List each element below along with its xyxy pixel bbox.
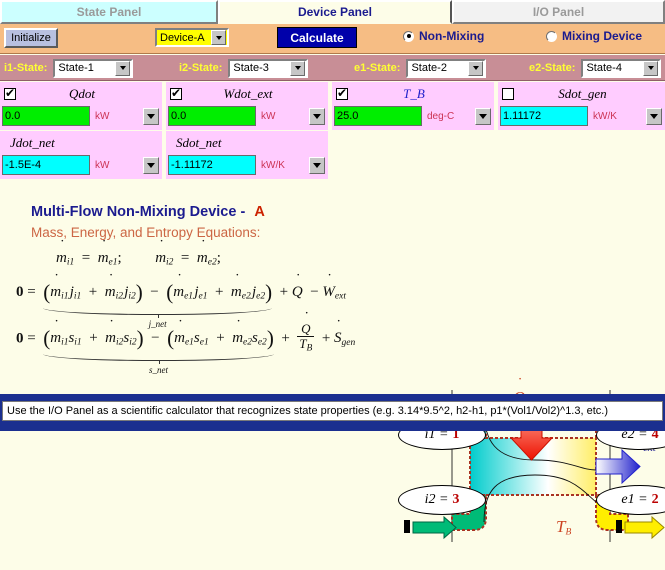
state-select-e2-value: State-4 [583,62,643,74]
property-name-t-b: T_B [348,86,494,102]
status-bar-text: Use the I/O Panel as a scientific calcul… [7,405,608,417]
unit-select-jdot-net[interactable]: kW [93,155,160,175]
underbrace-snet [43,354,274,361]
chevron-down-icon[interactable] [646,108,662,125]
state-select-e1[interactable]: State-2 [406,59,486,78]
fraction-q-over-tb: Q TB [297,322,314,354]
state-cell-i1: i1-State: State-1 [4,55,133,81]
inlet2-arrow [404,517,456,538]
page-subtitle: Mass, Energy, and Entropy Equations: [31,225,260,240]
property-name-sdot-gen: Sdot_gen [514,86,665,102]
page-title-text: Multi-Flow Non-Mixing Device - [31,204,245,220]
chevron-down-icon[interactable] [115,61,130,76]
input-sdot-net[interactable]: -1.11172 [168,155,256,175]
property-row: Qdot 0.0 kW Wdot_ext 0.0 kW T_B [0,82,665,130]
state-select-i1[interactable]: State-1 [53,59,133,78]
page-title: Multi-Flow Non-Mixing Device - A [31,204,265,220]
input-wdot-ext[interactable]: 0.0 [168,106,256,126]
property-header-t-b: T_B [332,82,494,106]
property-panel-sdot-gen: Sdot_gen 1.11172 kW/K [498,82,665,130]
radio-mixing-device-label: Mixing Device [562,29,642,43]
property-name-qdot: Qdot [16,86,162,102]
state-cell-e2: e2-State: State-4 [529,55,661,81]
tab-state-panel[interactable]: State Panel [0,0,218,24]
port-label-i2: i2 = 3 [398,485,486,515]
state-label-e1: e1-State: [354,62,400,74]
property-header-wdot-ext: Wdot_ext [166,82,328,106]
property-value-row-t-b: 25.0 deg-C [332,106,494,128]
chevron-down-icon[interactable] [468,61,483,76]
unit-label-sdot-gen: kW/K [591,111,646,122]
unit-select-t-b[interactable]: deg-C [425,106,492,126]
property-panel-t-b: T_B 25.0 deg-C [332,82,496,130]
input-sdot-gen[interactable]: 1.11172 [500,106,588,126]
checkbox-t-b[interactable] [336,88,348,100]
state-select-i2[interactable]: State-3 [228,59,308,78]
checkbox-wdot-ext[interactable] [170,88,182,100]
input-t-b[interactable]: 25.0 [334,106,422,126]
port-label-e1-state: 2 [652,492,659,508]
equation-energy-jnet-group: (mi1 ji1 + mi2 ji2) − (me1 je1 + me2 je2… [43,280,272,305]
equation-entropy-snet-group: (mi1si1 + mi2si2) − (me1se1 + me2se2) s_… [43,326,274,351]
property-name-wdot-ext: Wdot_ext [182,86,328,102]
chevron-down-icon[interactable] [211,30,226,45]
unit-label-qdot: kW [93,111,143,122]
net-property-row: Jdot_net -1.5E-4 kW Sdot_net -1.11172 kW… [0,131,665,179]
property-header-sdot-gen: Sdot_gen [498,82,665,106]
property-name-jdot-net: Jdot_net [4,135,162,151]
toolbar: Initialize Device-A Calculate Non-Mixing… [0,24,665,54]
work-output-arrow [596,450,640,483]
checkbox-sdot-gen[interactable] [502,88,514,100]
unit-label-jdot-net: kW [93,160,143,171]
port-label-e1-text: e1 = [621,492,647,508]
chevron-down-icon[interactable] [143,157,159,174]
radio-non-mixing-label: Non-Mixing [419,29,484,43]
device-select-value: Device-A [157,32,211,44]
property-panel-jdot-net: Jdot_net -1.5E-4 kW [0,131,164,179]
port-label-i2-state: 3 [452,492,459,508]
chevron-down-icon[interactable] [643,61,658,76]
initialize-button[interactable]: Initialize [4,28,58,48]
unit-select-sdot-net[interactable]: kW/K [259,155,326,175]
property-value-row-sdot-net: -1.11172 kW/K [166,155,328,177]
radio-non-mixing-indicator[interactable] [403,31,414,42]
chevron-down-icon[interactable] [143,108,159,125]
page-title-device: A [254,204,264,220]
boundary-temperature-label: TB [556,517,571,537]
status-bar-container: Use the I/O Panel as a scientific calcul… [0,394,665,431]
state-cell-i2: i2-State: State-3 [179,55,308,81]
property-name-sdot-net: Sdot_net [170,135,328,151]
input-jdot-net[interactable]: -1.5E-4 [2,155,90,175]
state-select-row: i1-State: State-1 i2-State: State-3 e1-S… [0,55,665,81]
state-select-i1-value: State-1 [55,62,115,74]
radio-mixing-device[interactable]: Mixing Device [546,29,642,43]
property-header-qdot: Qdot [0,82,162,106]
state-cell-e1: e1-State: State-2 [354,55,486,81]
radio-non-mixing[interactable]: Non-Mixing [403,29,484,43]
chevron-down-icon[interactable] [309,108,325,125]
property-panel-sdot-net: Sdot_net -1.11172 kW/K [166,131,330,179]
tab-strip: State Panel Device Panel I/O Panel [0,0,665,24]
equation-entropy: 0 = (mi1si1 + mi2si2) − (me1se1 + me2se2… [16,323,355,355]
property-value-row-wdot-ext: 0.0 kW [166,106,328,128]
chevron-down-icon[interactable] [475,108,491,125]
unit-label-t-b: deg-C [425,111,475,122]
property-value-row-jdot-net: -1.5E-4 kW [0,155,162,177]
status-bar: Use the I/O Panel as a scientific calcul… [2,401,663,421]
unit-select-qdot[interactable]: kW [93,106,160,126]
property-panel-qdot: Qdot 0.0 kW [0,82,164,130]
chevron-down-icon[interactable] [309,157,325,174]
property-value-row-qdot: 0.0 kW [0,106,162,128]
property-header-sdot-net: Sdot_net [166,131,328,155]
tab-device-panel[interactable]: Device Panel [218,0,452,24]
input-qdot[interactable]: 0.0 [2,106,90,126]
underbrace-jnet [43,308,272,315]
port-label-i2-text: i2 = [425,492,449,508]
underbrace-label-snet: s_net [149,365,168,375]
state-label-i2: i2-State: [179,62,222,74]
property-panel-wdot-ext: Wdot_ext 0.0 kW [166,82,330,130]
state-label-i1: i1-State: [4,62,47,74]
unit-label-sdot-net: kW/K [259,160,309,171]
unit-select-sdot-gen[interactable]: kW/K [591,106,663,126]
state-select-e1-value: State-2 [408,62,468,74]
state-label-e2: e2-State: [529,62,575,74]
main-canvas: Multi-Flow Non-Mixing Device - A Mass, E… [0,180,665,394]
calculate-button[interactable]: Calculate [277,27,357,48]
unit-select-wdot-ext[interactable]: kW [259,106,326,126]
property-header-jdot-net: Jdot_net [0,131,162,155]
state-select-e2[interactable]: State-4 [581,59,661,78]
equation-energy: 0 = (mi1 ji1 + mi2 ji2) − (me1 je1 + me2… [16,280,346,305]
equation-mass: mi1 = me1; mi2 = me2; [56,250,221,267]
device-select[interactable]: Device-A [155,28,229,47]
checkbox-qdot[interactable] [4,88,16,100]
tab-io-panel[interactable]: I/O Panel [452,0,665,24]
unit-label-wdot-ext: kW [259,111,309,122]
chevron-down-icon[interactable] [290,61,305,76]
property-value-row-sdot-gen: 1.11172 kW/K [498,106,665,128]
state-select-i2-value: State-3 [230,62,290,74]
radio-mixing-device-indicator[interactable] [546,31,557,42]
